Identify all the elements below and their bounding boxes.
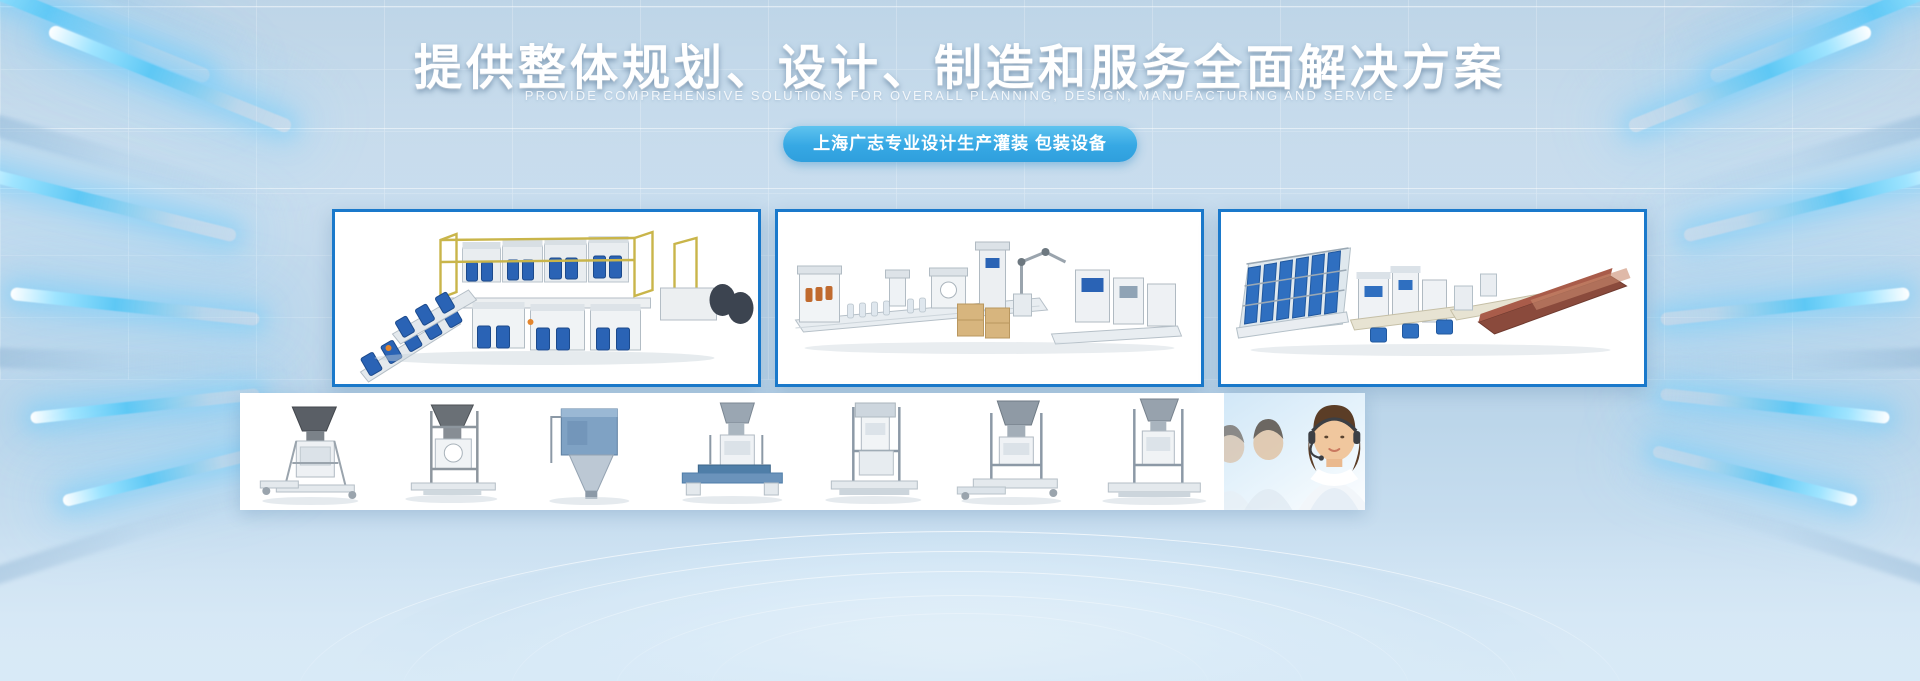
neon-tube-dim <box>1610 345 1920 378</box>
neon-tube <box>10 287 260 326</box>
stage-ring <box>295 531 1625 681</box>
stage-ring <box>615 595 1305 681</box>
floor-stage-glow <box>350 531 1570 681</box>
neon-tube-dim <box>0 345 310 378</box>
thumbnail-strip <box>240 393 1365 510</box>
panel-production-line-3[interactable] <box>1218 209 1647 387</box>
hero-banner: 提供整体规划、设计、制造和服务全面解决方案 PROVIDE COMPREHENS… <box>0 0 1920 681</box>
thumb-bagging-machine-1[interactable] <box>662 393 803 510</box>
thumb-bagging-machine-2[interactable] <box>803 393 944 510</box>
thumb-packing-machine-2[interactable] <box>381 393 522 510</box>
panel-row <box>332 209 1647 387</box>
wall-seam <box>0 188 1920 189</box>
neon-tube <box>1660 388 1890 424</box>
thumb-bagging-machine-3[interactable] <box>943 393 1084 510</box>
page-subtitle: PROVIDE COMPREHENSIVE SOLUTIONS FOR OVER… <box>0 88 1920 103</box>
production-line-illustration-1 <box>335 212 758 384</box>
thumb-bagging-machine-4[interactable] <box>1084 393 1225 510</box>
production-line-illustration-3 <box>1221 212 1644 384</box>
neon-tube-dim <box>0 93 325 230</box>
thumb-customer-service[interactable] <box>1224 393 1365 510</box>
neon-tube <box>30 388 260 424</box>
thumb-packing-machine-1[interactable] <box>240 393 381 510</box>
neon-tube <box>1660 287 1910 326</box>
stage-ring <box>710 613 1210 681</box>
panel-production-line-2[interactable] <box>775 209 1204 387</box>
stage-ring <box>400 551 1520 681</box>
thumb-hopper-machine[interactable] <box>521 393 662 510</box>
stage-ring <box>510 571 1410 681</box>
floor-fade <box>0 521 1920 681</box>
production-line-illustration-2 <box>778 212 1201 384</box>
tagline-badge[interactable]: 上海广志专业设计生产灌装 包装设备 <box>783 126 1137 162</box>
panel-production-line-1[interactable] <box>332 209 761 387</box>
wall-seam <box>0 6 1920 7</box>
